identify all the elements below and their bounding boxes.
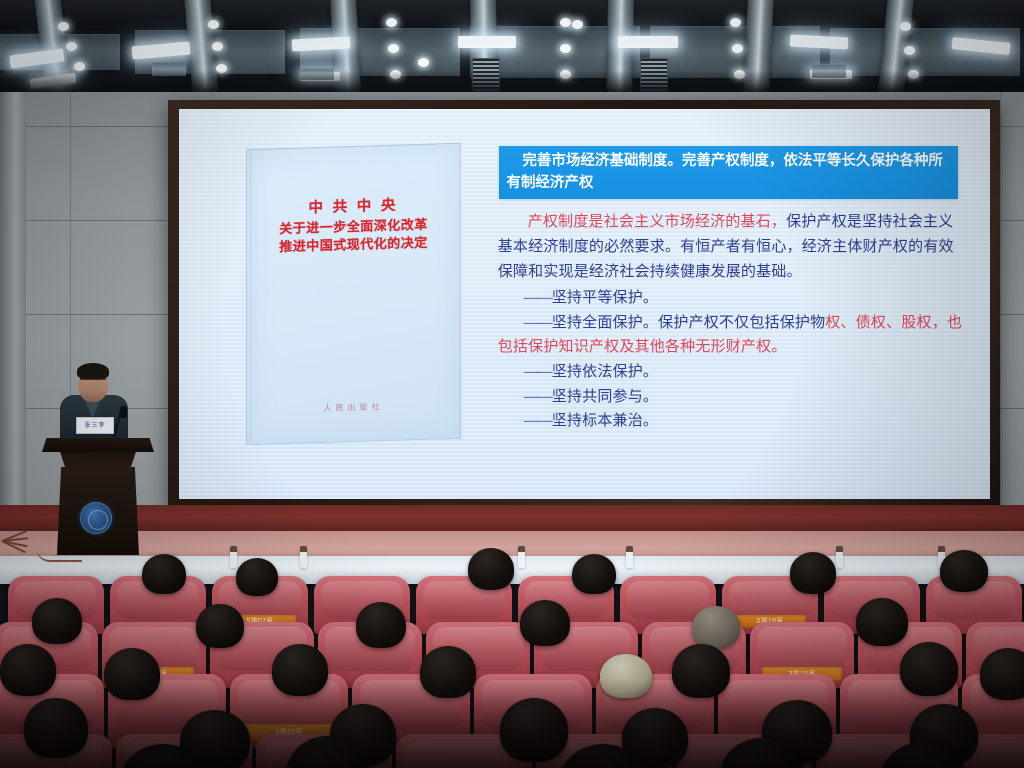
speaker-hair <box>77 363 109 379</box>
audience-head <box>0 644 56 696</box>
bullet-dash: —— <box>524 413 552 429</box>
name-card-text: 张三李 <box>77 418 113 434</box>
projector-screen-frame: 中 共 中 央 关于进一步全面深化改革 推进中国式现代化的决定 人民出版社 完善… <box>168 100 1000 510</box>
audience-head <box>856 598 908 646</box>
bullet-dash: —— <box>524 315 552 331</box>
bullet-text: 坚持标本兼治。 <box>552 413 658 429</box>
audience-head <box>940 550 988 592</box>
slide-title-banner: 完善市场经济基础制度。完善产权制度，依法平等长久保护各种所有制经济产权 <box>499 146 957 199</box>
podium-and-speaker: 张三李 <box>36 362 160 562</box>
audience-head <box>272 644 328 696</box>
presentation-slide: 中 共 中 央 关于进一步全面深化改革 推进中国式现代化的决定 人民出版社 完善… <box>179 109 990 499</box>
list-item: ——坚持标本兼治。 <box>498 409 964 434</box>
projection-screen: 中 共 中 央 关于进一步全面深化改革 推进中国式现代化的决定 人民出版社 完善… <box>179 109 990 499</box>
audience-head <box>500 698 568 762</box>
audience-head <box>24 698 88 758</box>
lecture-hall-photo: 中 共 中 央 关于进一步全面深化改革 推进中国式现代化的决定 人民出版社 完善… <box>0 0 1024 768</box>
slide-bullet-list: ——坚持平等保护。 ——坚持全面保护。保护产权不仅包括保护物权、债权、股权，也包… <box>498 286 964 434</box>
bullet-dash: —— <box>524 364 552 380</box>
audience-head <box>420 646 476 698</box>
slide-body: 产权制度是社会主义市场经济的基石，保护产权是坚持社会主义基本经济制度的必然要求。… <box>498 210 964 433</box>
audience-head <box>672 644 730 698</box>
audience-head <box>196 604 244 648</box>
audience-head <box>692 606 740 648</box>
audience-head <box>104 648 160 700</box>
podium-top <box>42 438 154 452</box>
list-item: ——坚持全面保护。保护产权不仅包括保护物权、债权、股权，也包括保护知识产权及其他… <box>498 311 964 360</box>
audience-head <box>980 648 1024 700</box>
audience-head <box>520 600 570 646</box>
list-item: ——坚持共同参与。 <box>498 385 964 410</box>
audience-head <box>572 554 616 594</box>
paragraph-highlight: 产权制度是社会主义市场经济的基石， <box>528 214 786 230</box>
wall-column <box>0 92 26 512</box>
microphone-icon <box>120 406 127 418</box>
bullet-dash: —— <box>524 290 552 306</box>
bullet-dash: —— <box>524 389 552 405</box>
book-cover-image: 中 共 中 央 关于进一步全面深化改革 推进中国式现代化的决定 人民出版社 <box>246 143 461 446</box>
speaker-name-card: 张三李 <box>76 417 114 434</box>
podium-neck <box>55 452 141 468</box>
list-item: ——坚持平等保护。 <box>498 286 964 311</box>
ceiling-light <box>458 36 516 48</box>
bullet-text: 坚持共同参与。 <box>552 389 658 405</box>
book-cover-title: 中 共 中 央 关于进一步全面深化改革 推进中国式现代化的决定 <box>247 194 460 258</box>
audience-head <box>468 548 514 590</box>
bullet-text: 坚持依法保护。 <box>552 364 658 380</box>
audience-head <box>600 654 652 698</box>
audience-seating: 5排07号 2排18号 4排09号 3排15号 2排10号 <box>0 548 1024 768</box>
audience-head <box>32 598 82 644</box>
university-emblem-icon <box>80 502 112 534</box>
list-item: ——坚持依法保护。 <box>498 360 964 385</box>
slide-paragraph: 产权制度是社会主义市场经济的基石，保护产权是坚持社会主义基本经济制度的必然要求。… <box>498 210 964 284</box>
ceiling-light <box>618 36 678 48</box>
audience-head <box>236 558 278 596</box>
audience-head <box>142 554 186 594</box>
bullet-text: 坚持平等保护。 <box>552 290 658 306</box>
ceiling <box>0 0 1024 96</box>
audience-head <box>900 642 958 696</box>
audience-head <box>356 602 406 648</box>
audience-head <box>790 552 836 594</box>
glasses-icon <box>80 378 106 383</box>
bullet-text: 坚持全面保护。保护产权不仅包括保护物 <box>552 315 826 331</box>
